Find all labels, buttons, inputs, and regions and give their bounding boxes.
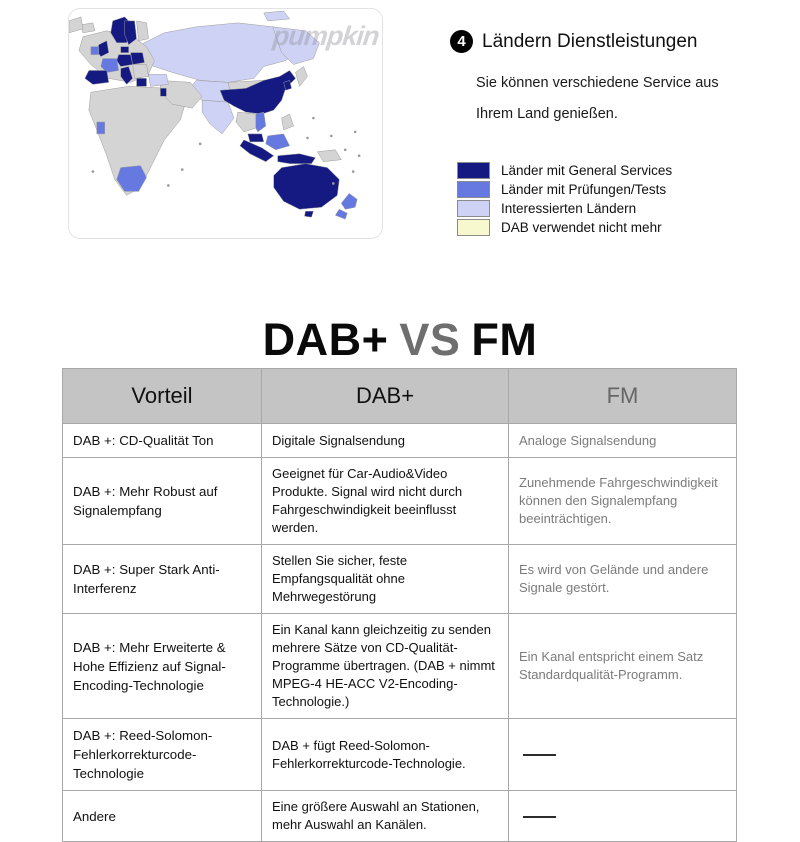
- column-header-vorteil: Vorteil: [63, 369, 262, 424]
- map-region-israel: [160, 88, 166, 96]
- map-region-iceland: [81, 23, 95, 33]
- map-region-ireland: [91, 47, 99, 55]
- map-region-poland: [131, 53, 145, 65]
- table-row: Andere Eine größere Auswahl an Stationen…: [63, 791, 737, 842]
- table-header-row: Vorteil DAB+ FM: [63, 369, 737, 424]
- section-heading: 4 Ländern Dienstleistungen: [450, 30, 698, 53]
- map-region-turkey: [148, 74, 168, 86]
- legend-label: Interessierten Ländern: [501, 201, 636, 216]
- world-map-card: pumpkin: [68, 8, 383, 239]
- cell-feature: DAB +: Reed-Solomon-Fehlerkorrekturcode-…: [63, 719, 262, 791]
- legend-item: Länder mit General Services: [457, 161, 672, 180]
- table-row: DAB +: Mehr Robust auf Signalempfang Gee…: [63, 458, 737, 545]
- legend-swatch-not-used: [457, 219, 490, 236]
- table-row: DAB +: Reed-Solomon-Fehlerkorrekturcode-…: [63, 719, 737, 791]
- legend-item: Länder mit Prüfungen/Tests: [457, 180, 672, 199]
- comparison-title-left: DAB+: [263, 314, 389, 365]
- cell-feature: DAB +: CD-Qualität Ton: [63, 424, 262, 458]
- cell-dab: Eine größere Auswahl an Stationen, mehr …: [262, 791, 509, 842]
- map-legend: Länder mit General Services Länder mit P…: [457, 161, 672, 237]
- cell-dab: Stellen Sie sicher, feste Empfangsqualit…: [262, 545, 509, 614]
- table-row: DAB +: Mehr Erweiterte & Hohe Effizienz …: [63, 614, 737, 719]
- comparison-title: DAB+VSFM: [0, 314, 800, 366]
- section-description-line-2: Ihrem Land genießen.: [476, 99, 796, 130]
- section-description: Sie können verschiedene Service aus Ihre…: [476, 68, 796, 130]
- table-row: DAB +: CD-Qualität Ton Digitale Signalse…: [63, 424, 737, 458]
- cell-fm: Ein Kanal entspricht einem Satz Standard…: [509, 614, 737, 719]
- column-header-fm: FM: [509, 369, 737, 424]
- cell-fm: Zunehmende Fahrgeschwindigkeit können de…: [509, 458, 737, 545]
- cell-dab: Digitale Signalsendung: [262, 424, 509, 458]
- comparison-table: Vorteil DAB+ FM DAB +: CD-Qualität Ton D…: [62, 368, 737, 842]
- cell-dab: DAB + fügt Reed-Solomon-Fehlerkorrekturc…: [262, 719, 509, 791]
- table-row: DAB +: Super Stark Anti-Interferenz Stel…: [63, 545, 737, 614]
- legend-label: DAB verwendet nicht mehr: [501, 220, 662, 235]
- section-title: Ländern Dienstleistungen: [482, 31, 698, 53]
- legend-label: Länder mit Prüfungen/Tests: [501, 182, 666, 197]
- legend-swatch-trials-tests: [457, 181, 490, 198]
- legend-item: DAB verwendet nicht mehr: [457, 218, 672, 237]
- empty-value-dash: [523, 754, 556, 756]
- cell-fm: [509, 791, 737, 842]
- cell-dab: Ein Kanal kann gleichzeitig zu senden me…: [262, 614, 509, 719]
- cell-feature: Andere: [63, 791, 262, 842]
- legend-item: Interessierten Ländern: [457, 199, 672, 218]
- map-region-ghana: [97, 122, 105, 134]
- empty-value-dash: [523, 816, 556, 818]
- legend-swatch-general-services: [457, 162, 490, 179]
- map-region-malaysia: [248, 134, 264, 142]
- cell-dab: Geeignet für Car-Audio&Video Produkte. S…: [262, 458, 509, 545]
- cell-feature: DAB +: Mehr Erweiterte & Hohe Effizienz …: [63, 614, 262, 719]
- cell-feature: DAB +: Mehr Robust auf Signalempfang: [63, 458, 262, 545]
- map-region-denmark: [121, 47, 129, 53]
- world-map-section: pumpkin 4 Ländern Dienstleistungen Sie k…: [0, 0, 800, 270]
- comparison-title-right: FM: [471, 314, 537, 365]
- section-description-line-1: Sie können verschiedene Service aus: [476, 68, 796, 99]
- world-map-graphic: [69, 9, 382, 238]
- map-region-finland: [137, 21, 149, 41]
- cell-fm: Analoge Signalsendung: [509, 424, 737, 458]
- legend-swatch-interested: [457, 200, 490, 217]
- cell-feature: DAB +: Super Stark Anti-Interferenz: [63, 545, 262, 614]
- legend-label: Länder mit General Services: [501, 163, 672, 178]
- cell-fm: Es wird von Gelände und andere Signale g…: [509, 545, 737, 614]
- column-header-dab: DAB+: [262, 369, 509, 424]
- map-region-balkans: [133, 65, 149, 79]
- comparison-title-middle: VS: [399, 314, 460, 365]
- step-number-badge: 4: [450, 30, 473, 53]
- map-region-greece: [137, 78, 147, 86]
- cell-fm: [509, 719, 737, 791]
